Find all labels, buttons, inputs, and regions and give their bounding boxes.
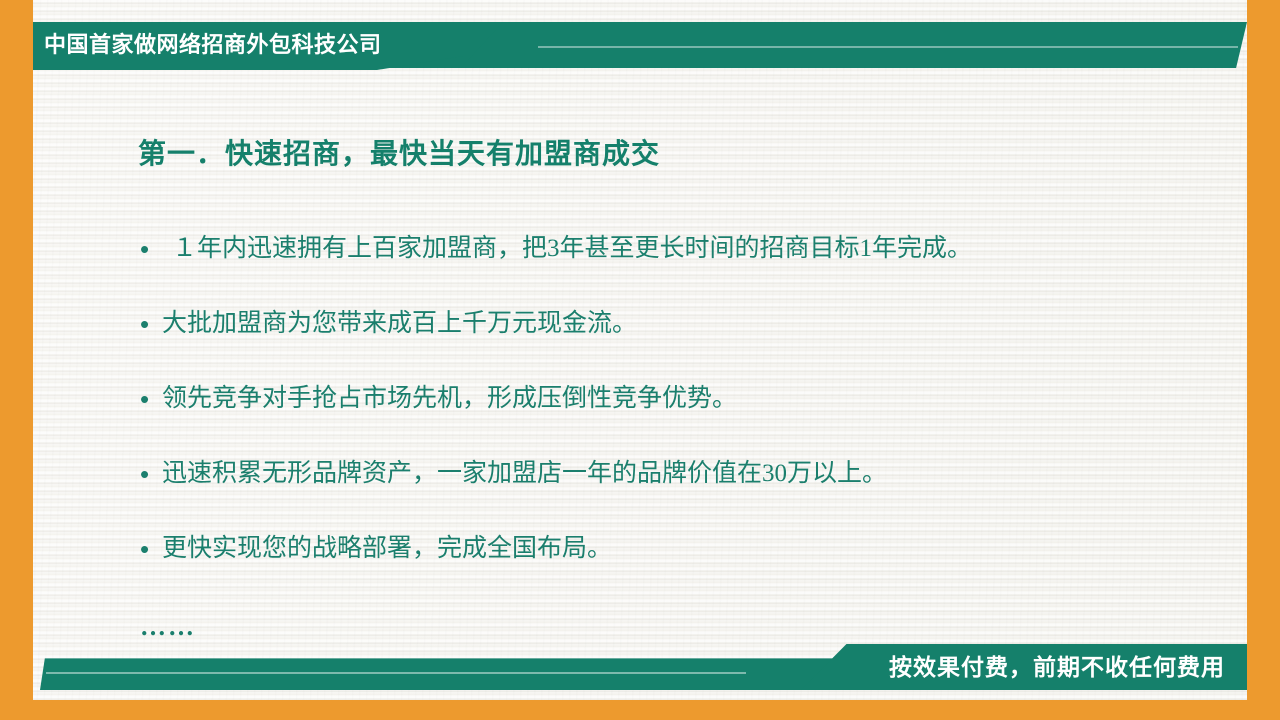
bullet-marker-icon: •	[140, 532, 162, 566]
list-item-text: 领先竞争对手抢占市场先机，形成压倒性竞争优势。	[162, 382, 1210, 416]
list-item-text: 大批加盟商为您带来成百上千万元现金流。	[162, 307, 1210, 341]
footer-tagline: 按效果付费，前期不收任何费用	[889, 648, 1225, 686]
list-item-text: １年内迅速拥有上百家加盟商，把3年甚至更长时间的招商目标1年完成。	[162, 232, 1210, 266]
list-item: • 大批加盟商为您带来成百上千万元现金流。	[140, 307, 1210, 382]
header-divider-line	[538, 46, 1238, 48]
bullet-list: • １年内迅速拥有上百家加盟商，把3年甚至更长时间的招商目标1年完成。 • 大批…	[140, 232, 1210, 607]
list-item-text: 迅速积累无形品牌资产，一家加盟店一年的品牌价值在30万以上。	[162, 457, 1210, 491]
ellipsis-text: ……	[140, 612, 196, 642]
bullet-marker-icon: •	[140, 307, 162, 341]
header-title: 中国首家做网络招商外包科技公司	[44, 26, 382, 64]
list-item-text: 更快实现您的战略部署，完成全国布局。	[162, 532, 1210, 566]
bullet-marker-icon: •	[140, 382, 162, 416]
bullet-marker-icon: •	[140, 457, 162, 491]
list-item: • １年内迅速拥有上百家加盟商，把3年甚至更长时间的招商目标1年完成。	[140, 232, 1210, 307]
list-item: • 迅速积累无形品牌资产，一家加盟店一年的品牌价值在30万以上。	[140, 457, 1210, 532]
footer-divider-line	[46, 672, 746, 674]
list-item: • 更快实现您的战略部署，完成全国布局。	[140, 532, 1210, 607]
list-item: • 领先竞争对手抢占市场先机，形成压倒性竞争优势。	[140, 382, 1210, 457]
bullet-marker-icon: •	[140, 232, 162, 266]
slide-canvas: 中国首家做网络招商外包科技公司 第一．快速招商，最快当天有加盟商成交 • １年内…	[0, 0, 1280, 720]
page-title: 第一．快速招商，最快当天有加盟商成交	[138, 132, 660, 172]
bottom-orange-strip	[0, 700, 1280, 720]
